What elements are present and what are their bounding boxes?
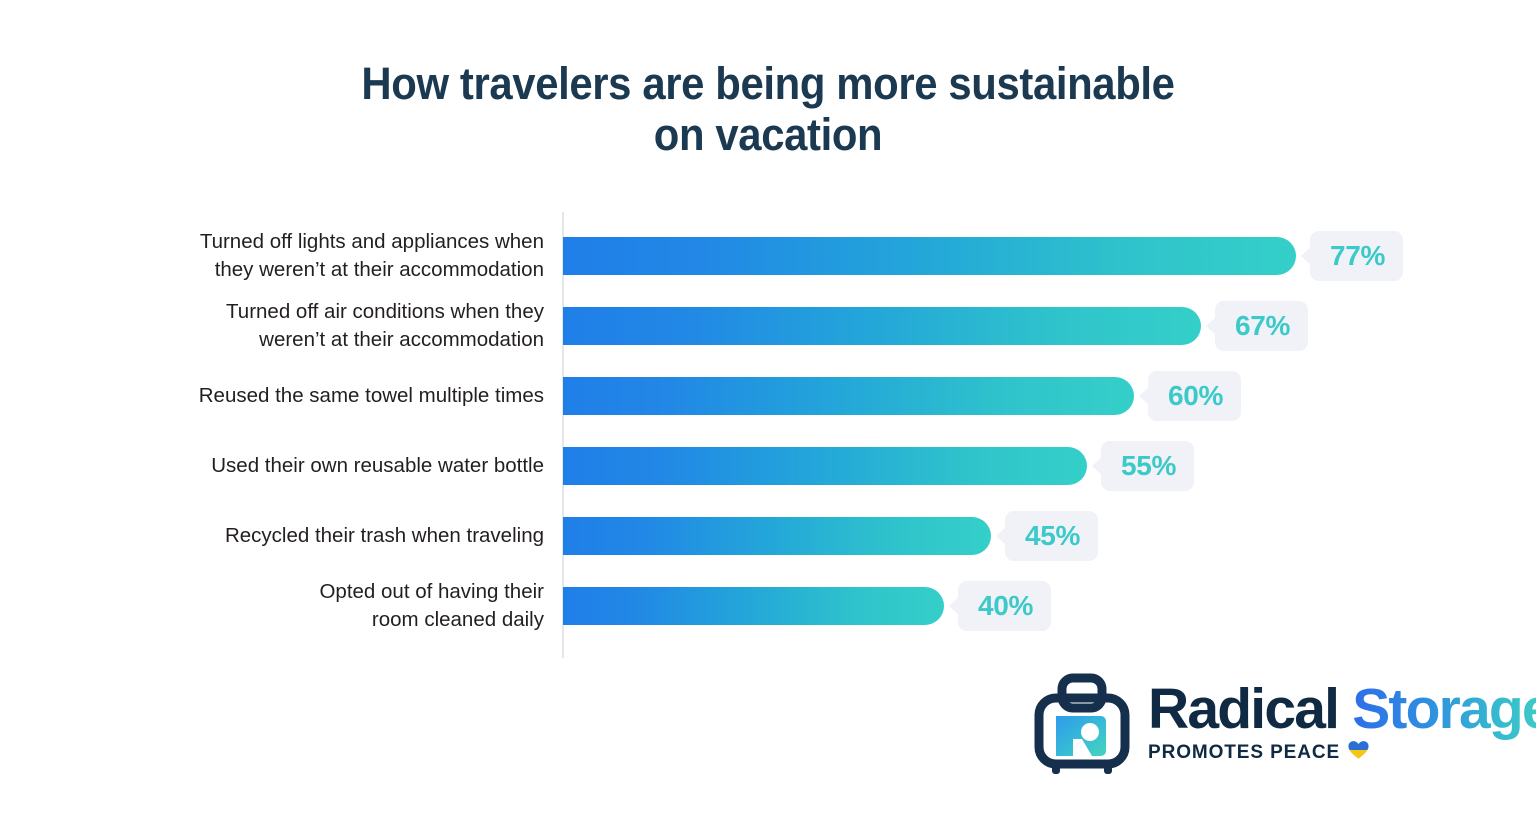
logo-wordmark: Radical Storage	[1148, 680, 1536, 738]
bar	[563, 587, 944, 625]
bar-category-label: Used their own reusable water bottle	[124, 452, 544, 480]
ukraine-heart-icon	[1348, 740, 1369, 766]
logo-tagline-group: PROMOTES PEACE	[1148, 740, 1536, 766]
bar-category-label: Opted out of having their room cleaned d…	[124, 578, 544, 634]
logo-brand-secondary: Storage	[1352, 677, 1536, 741]
logo-brand-primary: Radical	[1148, 677, 1338, 741]
bar-value-callout: 77%	[1310, 231, 1403, 281]
bar-row: Used their own reusable water bottle55%	[0, 447, 1536, 485]
bar-category-label: Turned off lights and appliances when th…	[124, 228, 544, 284]
bar-row: Turned off lights and appliances when th…	[0, 237, 1536, 275]
page-title: How travelers are being more sustainable…	[0, 58, 1536, 160]
bar	[563, 447, 1087, 485]
bar-category-label: Reused the same towel multiple times	[124, 382, 544, 410]
bar	[563, 237, 1296, 275]
bar-value-callout: 67%	[1215, 301, 1308, 351]
bar-row: Recycled their trash when traveling45%	[0, 517, 1536, 555]
bar-category-label: Turned off air conditions when they were…	[124, 298, 544, 354]
title-line-2: on vacation	[54, 109, 1482, 160]
brand-logo: Radical Storage PROMOTES PEACE	[1030, 668, 1500, 780]
bar-value-callout: 45%	[1005, 511, 1098, 561]
bar-chart: Turned off lights and appliances when th…	[0, 212, 1536, 660]
title-line-1: How travelers are being more sustainable	[54, 58, 1482, 109]
bar-row: Reused the same towel multiple times60%	[0, 377, 1536, 415]
bar	[563, 517, 991, 555]
bar-row: Turned off air conditions when they were…	[0, 307, 1536, 345]
bar	[563, 307, 1201, 345]
bar-value-callout: 40%	[958, 581, 1051, 631]
bar-value-callout: 55%	[1101, 441, 1194, 491]
suitcase-icon	[1030, 672, 1134, 776]
logo-wordmark-group: Radical Storage PROMOTES PEACE	[1148, 680, 1536, 766]
bar-row: Opted out of having their room cleaned d…	[0, 587, 1536, 625]
bar-value-callout: 60%	[1148, 371, 1241, 421]
logo-tagline: PROMOTES PEACE	[1148, 742, 1340, 764]
bar-category-label: Recycled their trash when traveling	[124, 522, 544, 550]
bar	[563, 377, 1134, 415]
